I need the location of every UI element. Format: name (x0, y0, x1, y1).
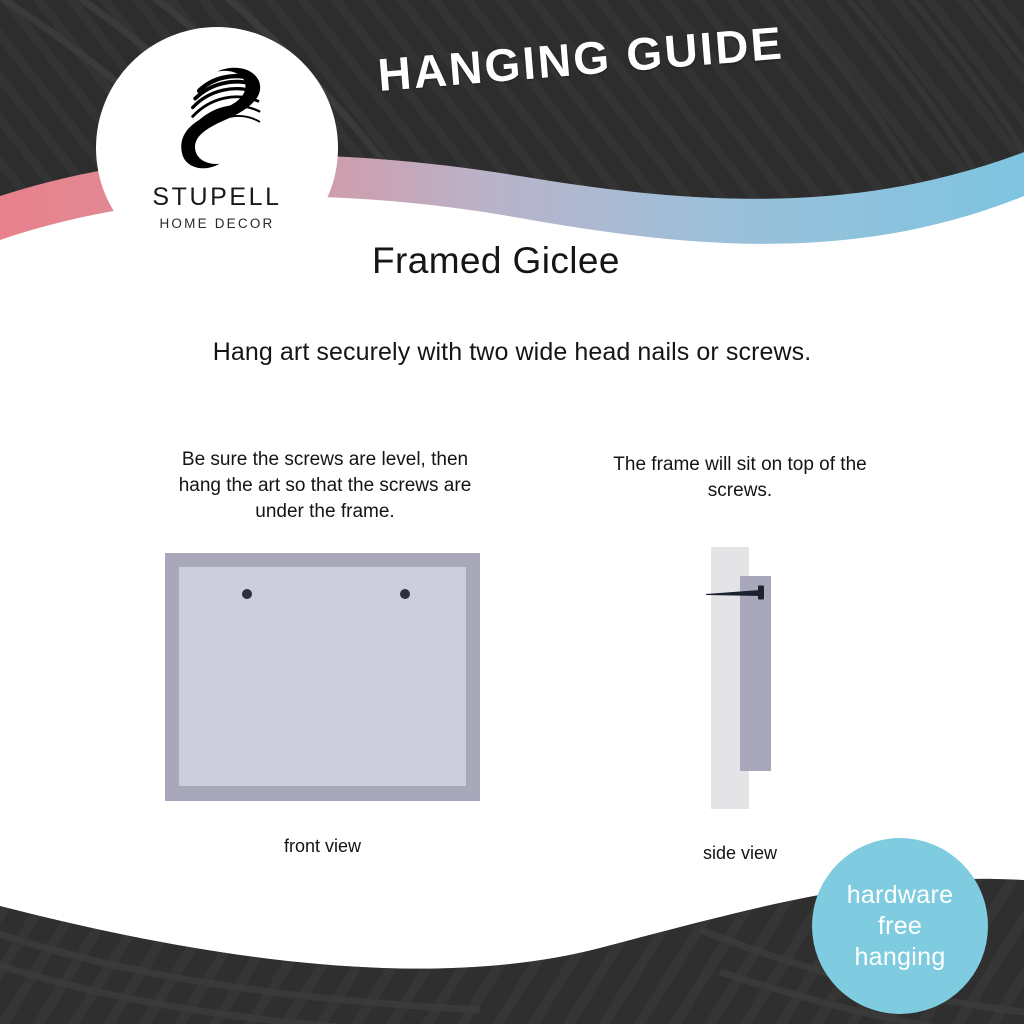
screw-dot-right-icon (400, 589, 410, 599)
side-view-frame-bar (740, 576, 771, 771)
hanging-guide-infographic: STUPELL HOME DECOR HANGING GUIDE Framed … (0, 0, 1024, 1024)
front-view-label: front view (165, 836, 480, 857)
side-view-diagram (690, 540, 800, 820)
side-view-label: side view (655, 843, 825, 864)
hardware-free-badge: hardware free hanging (812, 838, 988, 1014)
lead-instruction: Hang art securely with two wide head nai… (0, 338, 1024, 367)
nail-icon (704, 584, 774, 602)
front-view-mat (179, 567, 466, 786)
badge-line-3: hanging (854, 942, 945, 973)
brand-name: STUPELL (152, 185, 281, 210)
badge-line-2: free (878, 911, 922, 942)
product-type-label: Framed Giclee (372, 240, 620, 282)
brand-tagline: HOME DECOR (159, 217, 274, 231)
stupell-swoosh-logo-icon (153, 55, 281, 183)
brand-logo-badge: STUPELL HOME DECOR (96, 27, 338, 269)
screw-dot-left-icon (242, 589, 252, 599)
front-view-diagram (165, 553, 480, 801)
side-view-caption: The frame will sit on top of the screws. (590, 452, 890, 504)
badge-line-1: hardware (847, 880, 954, 911)
page-title: HANGING GUIDE (376, 15, 786, 101)
front-view-caption: Be sure the screws are level, then hang … (160, 447, 490, 525)
